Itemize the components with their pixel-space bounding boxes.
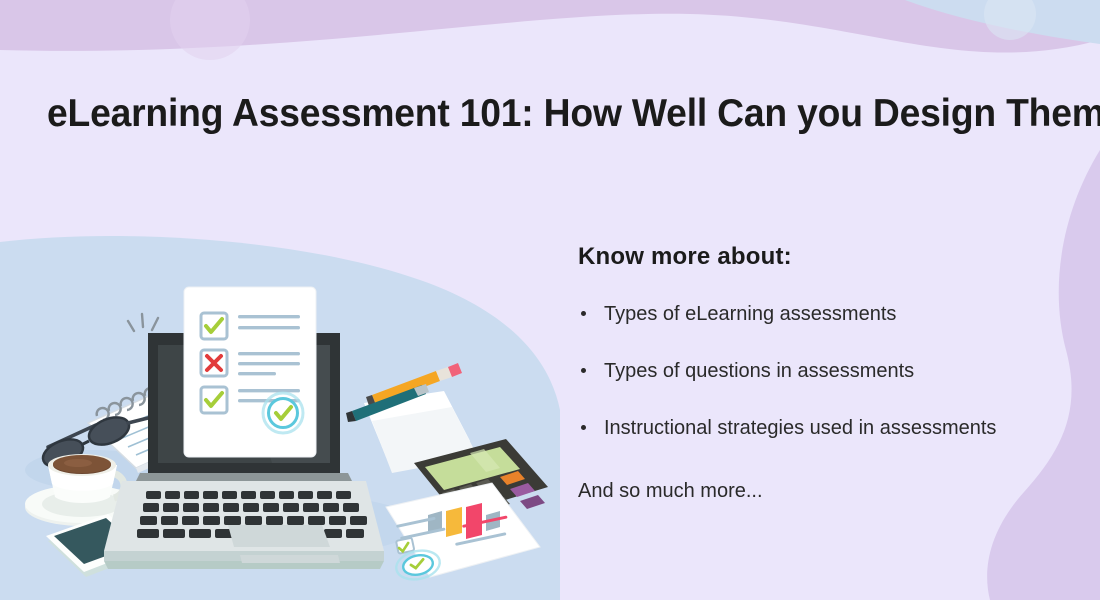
closing-line: And so much more... [578,477,1048,505]
page-title: eLearning Assessment 101: How Well Can y… [47,92,1012,136]
report-bar [446,507,462,537]
sparkle-icon [128,314,158,331]
list-item-label: Instructional strategies used in assessm… [604,417,996,439]
top-wave-band [0,0,1100,53]
top-right-blue-arc [905,0,1100,44]
badge-ring [269,399,298,428]
decor-bubble [170,0,250,60]
desk-illustration [0,225,560,600]
benefits-list: Types of eLearning assessments Types of … [578,299,1048,443]
promo-banner: eLearning Assessment 101: How Well Can y… [0,0,1100,600]
report-bar [466,503,482,539]
bullet-dot [581,425,586,430]
list-item: Types of eLearning assessments [578,299,1048,329]
bullet-dot [581,311,586,316]
decor-bubble [984,0,1036,40]
list-item-label: Types of questions in assessments [604,360,914,382]
report-sheet [386,483,540,583]
trackpad [228,525,330,547]
calculator-key-purple [520,495,545,509]
copy-block: Know more about: Types of eLearning asse… [578,243,1048,505]
list-item: Instructional strategies used in assessm… [578,413,1048,443]
list-item-label: Types of eLearning assessments [604,303,896,325]
copy-heading: Know more about: [578,243,1048,271]
list-item: Types of questions in assessments [578,356,1048,386]
checklist-document [184,287,316,457]
bullet-dot [581,368,586,373]
